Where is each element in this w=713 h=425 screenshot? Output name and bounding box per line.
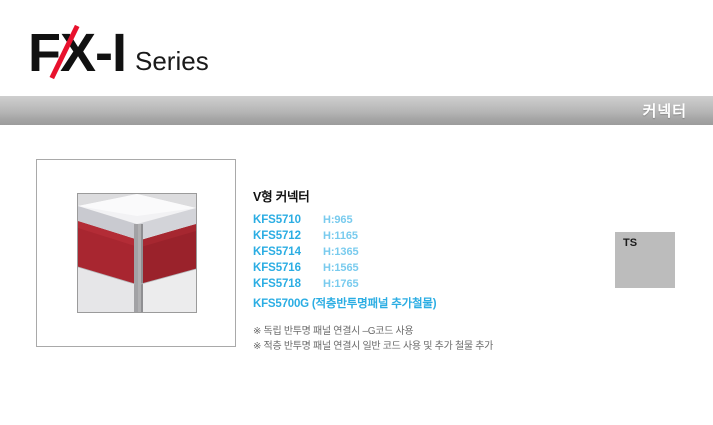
spec-title: V형 커넥터 bbox=[253, 186, 553, 205]
color-swatch-label: TS bbox=[623, 237, 637, 249]
spec-block: V형 커넥터 KFS5710 H:965 KFS5712 H:1165 KFS5… bbox=[253, 186, 553, 354]
spec-model-code: KFS5716 bbox=[253, 262, 323, 274]
spec-model-height: H:1765 bbox=[323, 278, 358, 290]
spec-model-code: KFS5714 bbox=[253, 246, 323, 258]
spec-model-code: KFS5718 bbox=[253, 278, 323, 290]
spec-model-height: H:1365 bbox=[323, 246, 358, 258]
spec-row: KFS5718 H:1765 bbox=[253, 278, 553, 292]
product-image-frame bbox=[36, 159, 236, 347]
spec-model-height: H:1565 bbox=[323, 262, 358, 274]
logo-series-text: Series bbox=[135, 46, 209, 77]
spec-model-height: H:965 bbox=[323, 214, 352, 226]
spec-model-height: H:1165 bbox=[323, 230, 358, 242]
logo-wordmark: FX-I bbox=[28, 26, 126, 80]
spec-model-code: KFS5712 bbox=[253, 230, 323, 242]
color-swatch-ts: TS bbox=[615, 232, 675, 288]
spec-row: KFS5712 H:1165 bbox=[253, 230, 553, 244]
spec-notes: ※ 독립 반투명 패널 연결시 –G코드 사용 ※ 적층 반투명 패널 연결시 … bbox=[253, 324, 553, 354]
spec-extra-option: KFS5700G (적층반투명패널 추가철물) bbox=[253, 295, 553, 311]
v-connector-illustration bbox=[78, 194, 196, 312]
spec-row: KFS5716 H:1565 bbox=[253, 262, 553, 276]
spec-note: ※ 독립 반투명 패널 연결시 –G코드 사용 bbox=[253, 324, 553, 339]
section-title: 커넥터 bbox=[643, 100, 687, 121]
spec-note: ※ 적층 반투명 패널 연결시 일반 코드 사용 및 추가 철물 추가 bbox=[253, 339, 553, 354]
spec-model-code: KFS5710 bbox=[253, 214, 323, 226]
spec-row: KFS5710 H:965 bbox=[253, 214, 553, 228]
logo-wordmark-text: FX-I bbox=[28, 23, 126, 83]
section-header-bar: 커넥터 bbox=[0, 96, 713, 125]
brand-logo: FX-I Series bbox=[28, 26, 209, 82]
spec-row: KFS5714 H:1365 bbox=[253, 246, 553, 260]
product-photo bbox=[77, 193, 197, 313]
